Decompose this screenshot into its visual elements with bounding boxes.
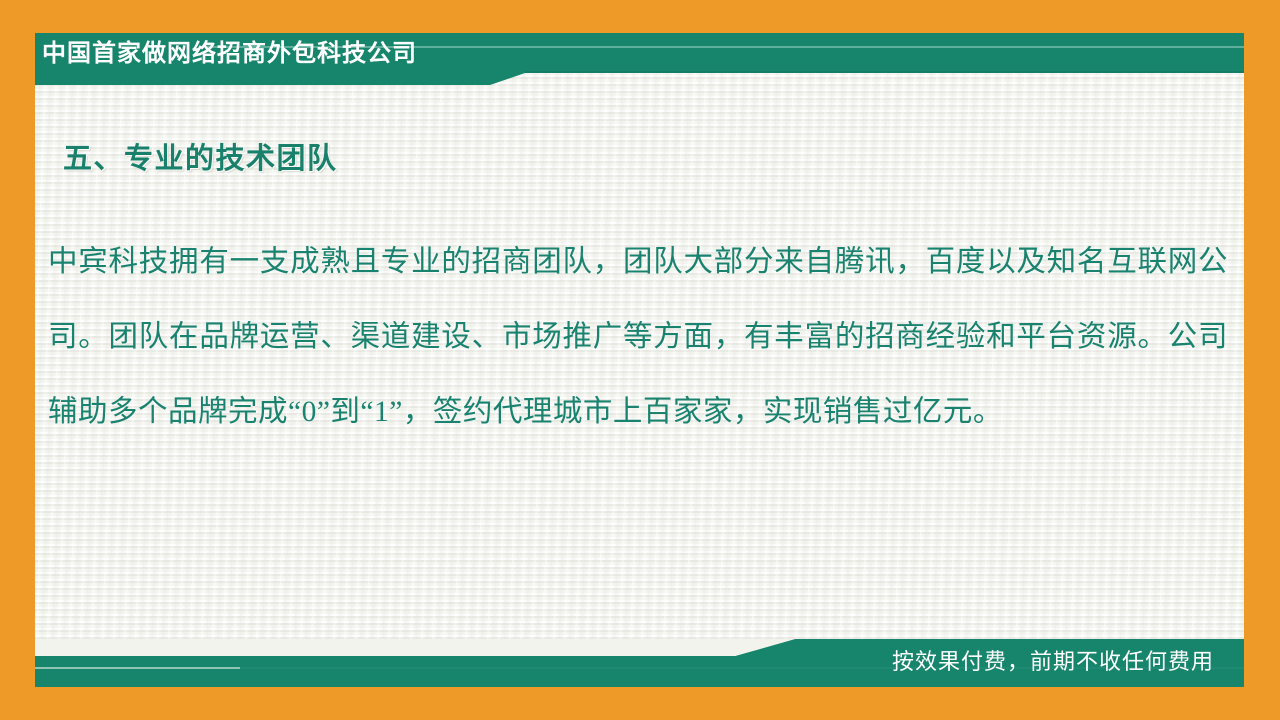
footer-band-highlight-line <box>35 667 240 669</box>
body-paragraph-text: 中宾科技拥有一支成熟且专业的招商团队，团队大部分来自腾讯，百度以及知名互联网公司… <box>48 225 1228 450</box>
body-paragraph: 中宾科技拥有一支成熟且专业的招商团队，团队大部分来自腾讯，百度以及知名互联网公司… <box>48 225 1228 450</box>
main-content: 五、专业的技术团队 中宾科技拥有一支成熟且专业的招商团队，团队大部分来自腾讯，百… <box>35 85 1244 630</box>
page-title: 五、专业的技术团队 <box>63 135 338 177</box>
slide-root: 中国首家做网络招商外包科技公司 五、专业的技术团队 中宾科技拥有一支成熟且专业的… <box>0 0 1280 720</box>
header-band-shadow-edge <box>525 71 1244 73</box>
header-title: 中国首家做网络招商外包科技公司 <box>42 39 417 69</box>
footer-slogan: 按效果付费，前期不收任何费用 <box>892 648 1214 676</box>
